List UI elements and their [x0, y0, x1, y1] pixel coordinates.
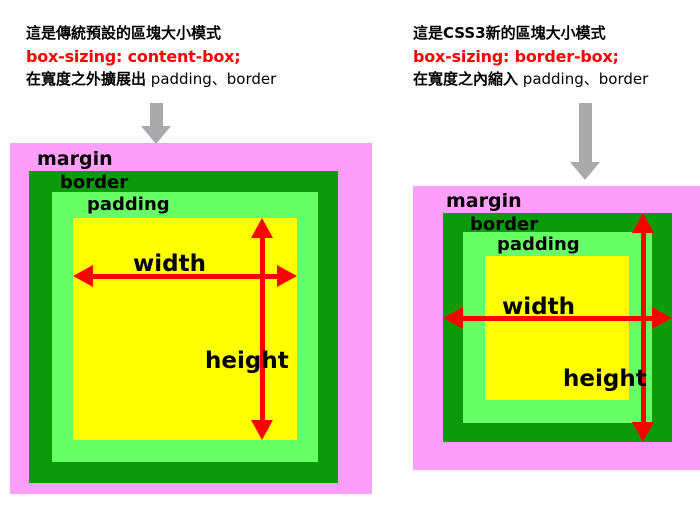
- height-label: height: [563, 368, 647, 391]
- down-arrow-icon-right: [570, 103, 601, 144]
- arrow-shaft: [579, 103, 592, 163]
- caption-left-line3-en: padding、border: [151, 70, 276, 88]
- border-label: border: [60, 174, 128, 192]
- border-label: border: [470, 216, 538, 234]
- arrow-head: [570, 162, 600, 180]
- caption-content-box: 這是傳統預設的區塊大小模式 box-sizing: content-box; 在…: [26, 22, 276, 91]
- padding-label: padding: [87, 196, 170, 214]
- arrow-head-top: [251, 218, 273, 238]
- arrow-head-right: [652, 307, 672, 329]
- width-label: width: [502, 296, 575, 319]
- arrow-head-bottom: [251, 420, 273, 440]
- arrow-head-top: [632, 213, 654, 233]
- box-model-border-box: margin border padding width height: [413, 186, 700, 470]
- caption-left-code: box-sizing: content-box;: [26, 45, 276, 68]
- caption-left-line3-zh: 在寬度之外擴展出: [26, 70, 146, 88]
- caption-right-line3-zh: 在寬度之內縮入: [413, 70, 518, 88]
- height-measure-arrow: [632, 213, 655, 442]
- height-label: height: [205, 350, 289, 373]
- margin-label: margin: [37, 150, 113, 169]
- margin-label: margin: [446, 192, 522, 211]
- caption-right-line1: 這是CSS3新的區塊大小模式: [413, 22, 648, 45]
- arrow-bar: [641, 224, 646, 431]
- arrow-head-right: [277, 265, 297, 287]
- caption-right-code: box-sizing: border-box;: [413, 45, 648, 68]
- caption-border-box: 這是CSS3新的區塊大小模式 box-sizing: border-box; 在…: [413, 22, 648, 91]
- height-measure-arrow: [251, 218, 274, 440]
- arrow-shaft: [150, 103, 163, 127]
- width-label: width: [133, 253, 206, 276]
- arrow-head-left: [443, 307, 463, 329]
- down-arrow-icon-left: [141, 103, 172, 144]
- arrow-head-left: [73, 265, 93, 287]
- arrow-head-bottom: [632, 422, 654, 442]
- diagram-canvas: 這是傳統預設的區塊大小模式 box-sizing: content-box; 在…: [0, 0, 700, 514]
- arrow-head: [141, 126, 171, 144]
- caption-right-line3: 在寬度之內縮入 padding、border: [413, 68, 648, 91]
- arrow-bar: [260, 229, 265, 429]
- caption-right-line3-en: padding、border: [523, 70, 648, 88]
- caption-left-line1: 這是傳統預設的區塊大小模式: [26, 22, 276, 45]
- padding-label: padding: [497, 236, 580, 254]
- box-model-content-box: margin border padding width height: [10, 143, 372, 494]
- caption-left-line3: 在寬度之外擴展出 padding、border: [26, 68, 276, 91]
